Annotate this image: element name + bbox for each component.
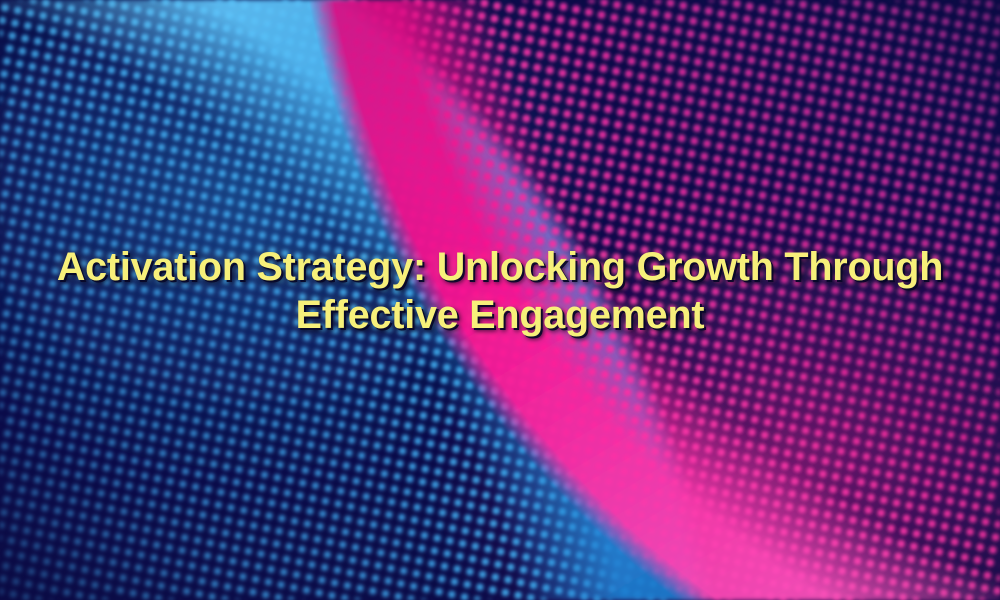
banner-canvas: Activation Strategy: Unlocking Growth Th… <box>0 0 1000 600</box>
page-title: Activation Strategy: Unlocking Growth Th… <box>24 243 976 339</box>
headline-container: Activation Strategy: Unlocking Growth Th… <box>0 243 1000 339</box>
